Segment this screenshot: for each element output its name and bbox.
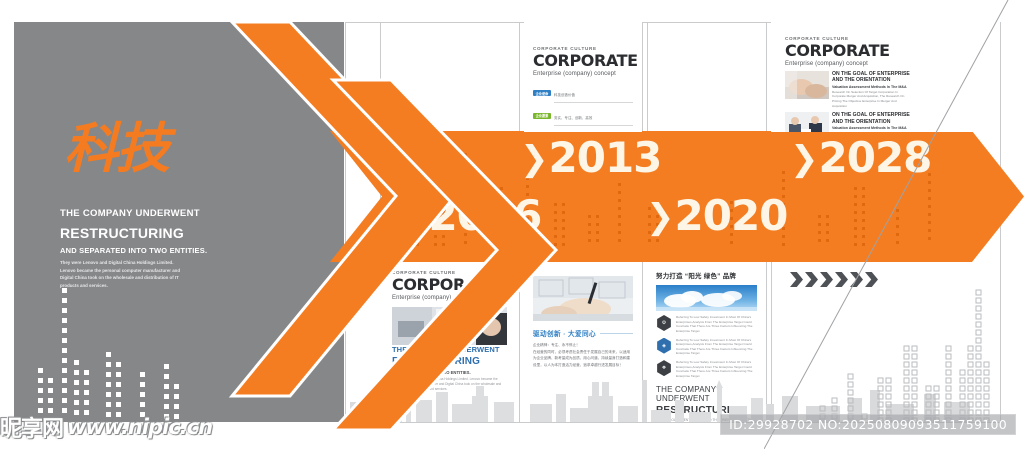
watermark-id: ID:29928702 NO:20250809093511759100 <box>720 414 1016 435</box>
watermark-left: 昵享网 www.nipic.cn <box>0 411 212 443</box>
watermark-site-url: www.nipic.cn <box>67 415 212 439</box>
poster-canvas: 科技 THE COMPANY UNDERWENT RESTRUCTURING A… <box>0 0 1024 449</box>
watermark-site-cn: 昵享网 <box>0 411 63 443</box>
orange-chevron-group <box>0 0 1024 449</box>
